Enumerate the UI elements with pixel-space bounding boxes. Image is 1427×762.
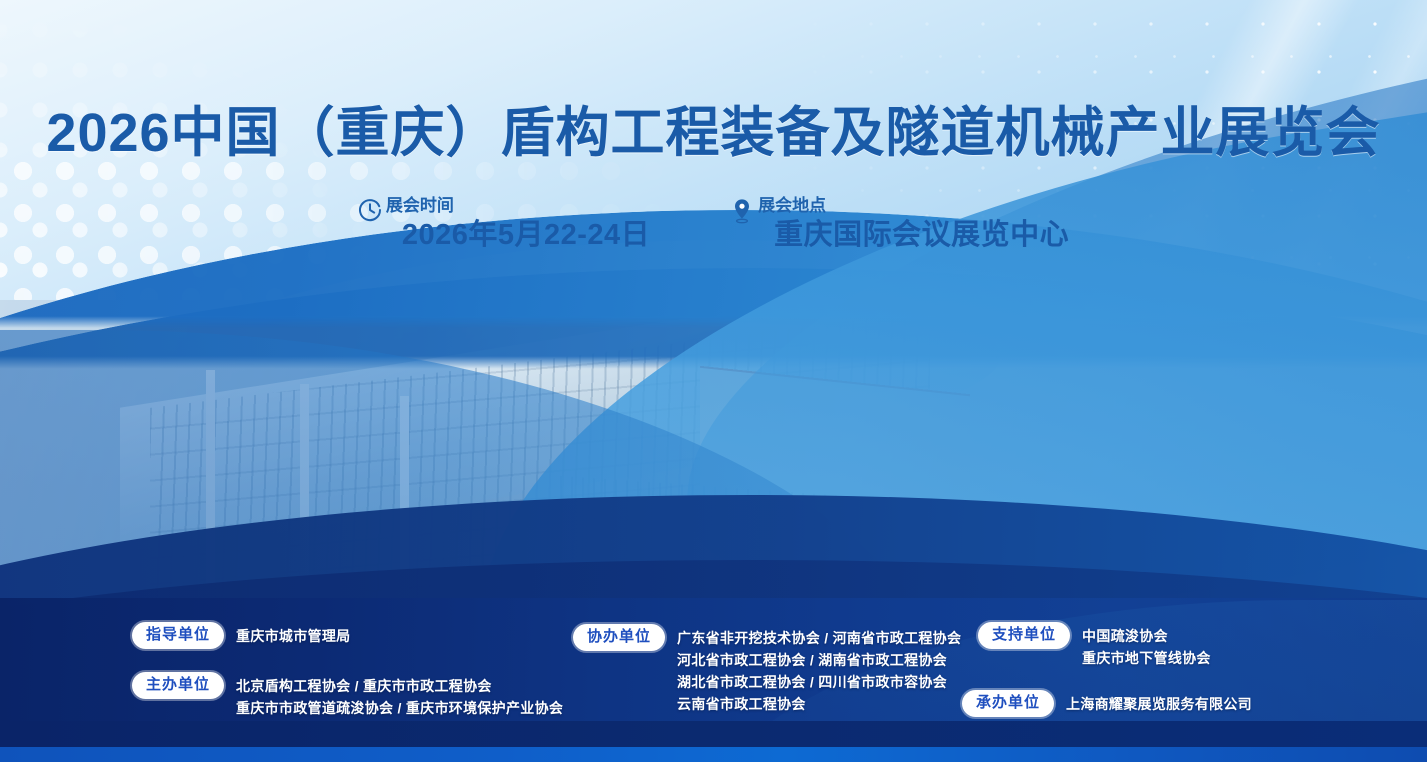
partner-line: 河北省市政工程协会 / 湖南省市政工程协会 [677, 649, 961, 671]
partner-line: 重庆市城市管理局 [236, 625, 350, 647]
partner-line: 湖北省市政工程协会 / 四川省市政市容协会 [677, 671, 961, 693]
partner-line: 广东省非开挖技术协会 / 河南省市政工程协会 [677, 627, 961, 649]
partner-group-host: 主办单位 北京盾构工程协会 / 重庆市市政工程协会 重庆市市政管道疏浚协会 / … [132, 672, 563, 719]
partner-lines-coorganizer: 广东省非开挖技术协会 / 河南省市政工程协会 河北省市政工程协会 / 湖南省市政… [677, 624, 961, 715]
event-time-block: 展会时间 2026年5月22-24日 [358, 196, 650, 252]
partner-lines-guide: 重庆市城市管理局 [236, 622, 350, 647]
partner-line: 重庆市地下管线协会 [1082, 647, 1211, 669]
partner-line: 北京盾构工程协会 / 重庆市市政工程协会 [236, 675, 563, 697]
partner-lines-host: 北京盾构工程协会 / 重庆市市政工程协会 重庆市市政管道疏浚协会 / 重庆市环境… [236, 672, 563, 719]
partner-group-guide: 指导单位 重庆市城市管理局 [132, 622, 350, 649]
event-venue-block: 展会地点 重庆国际会议展览中心 [730, 196, 1069, 252]
partner-group-support: 支持单位 中国疏浚协会 重庆市地下管线协会 [978, 622, 1211, 669]
partner-line: 重庆市市政管道疏浚协会 / 重庆市环境保护产业协会 [236, 697, 563, 719]
partner-lines-support: 中国疏浚协会 重庆市地下管线协会 [1082, 622, 1211, 669]
clock-icon [358, 198, 384, 224]
event-meta-row: 展会时间 2026年5月22-24日 展会地点 重庆国际会议展览中心 [0, 196, 1427, 252]
partner-line: 中国疏浚协会 [1082, 625, 1211, 647]
badge-support: 支持单位 [978, 622, 1070, 649]
event-time-value: 2026年5月22-24日 [402, 218, 650, 252]
badge-guide: 指导单位 [132, 622, 224, 649]
page-title: 2026中国（重庆）盾构工程装备及隧道机械产业展览会 [0, 88, 1427, 167]
partner-lines-organizer: 上海商耀聚展览服务有限公司 [1066, 690, 1252, 715]
badge-organizer: 承办单位 [962, 690, 1054, 717]
exhibition-banner: 2026中国（重庆）盾构工程装备及隧道机械产业展览会 展会时间 2026年5月2… [0, 0, 1427, 762]
location-pin-icon [730, 198, 756, 224]
event-venue-value: 重庆国际会议展览中心 [774, 218, 1069, 252]
event-venue-label: 展会地点 [758, 196, 1069, 216]
partner-group-organizer: 承办单位 上海商耀聚展览服务有限公司 [962, 690, 1252, 717]
event-time-label: 展会时间 [386, 196, 650, 216]
partner-line: 上海商耀聚展览服务有限公司 [1066, 693, 1252, 715]
badge-coorganizer: 协办单位 [573, 624, 665, 651]
badge-host: 主办单位 [132, 672, 224, 699]
partners-section: 指导单位 重庆市城市管理局 主办单位 北京盾构工程协会 / 重庆市市政工程协会 … [0, 612, 1427, 742]
partner-line: 云南省市政工程协会 [677, 693, 961, 715]
bottom-accent-strip [0, 747, 1427, 762]
partner-group-coorganizer: 协办单位 广东省非开挖技术协会 / 河南省市政工程协会 河北省市政工程协会 / … [573, 624, 961, 715]
